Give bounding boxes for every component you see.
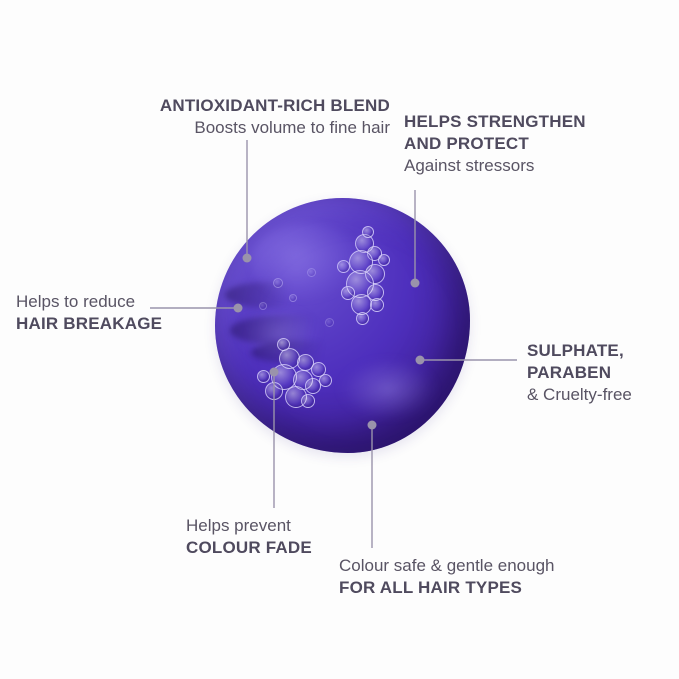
- callout-all-hair-types-bold: FOR ALL HAIR TYPES: [339, 577, 599, 599]
- product-blob-body: [215, 198, 470, 453]
- benefits-infographic: ANTIOXIDANT-RICH BLEND Boosts volume to …: [0, 0, 679, 679]
- anchor-dot-colour-fade: [270, 368, 279, 377]
- callout-breakage-regular: Helps to reduce: [16, 291, 191, 313]
- callout-colour-fade-bold: COLOUR FADE: [186, 537, 351, 559]
- callout-colour-fade-regular: Helps prevent: [186, 515, 351, 537]
- blob-streak-2: [251, 341, 353, 364]
- callout-colour-fade: Helps prevent COLOUR FADE: [186, 515, 351, 559]
- anchor-dot-breakage: [234, 304, 243, 313]
- callout-antioxidant-bold: ANTIOXIDANT-RICH BLEND: [150, 95, 390, 117]
- callout-antioxidant-regular: Boosts volume to fine hair: [150, 117, 390, 139]
- anchor-dot-strengthen: [411, 279, 420, 288]
- callout-all-hair-types-regular: Colour safe & gentle enough: [339, 555, 599, 577]
- callout-sulphate: SULPHATE, PARABEN & Cruelty-free: [527, 340, 677, 406]
- callout-strengthen-bold: HELPS STRENGTHEN AND PROTECT: [404, 111, 609, 155]
- callout-breakage: Helps to reduce HAIR BREAKAGE: [16, 291, 191, 335]
- callout-strengthen-regular: Against stressors: [404, 155, 609, 177]
- anchor-dot-all-hair-types: [368, 421, 377, 430]
- blob-sheen-right: [337, 356, 439, 422]
- callout-strengthen: HELPS STRENGTHEN AND PROTECT Against str…: [404, 111, 609, 177]
- callout-sulphate-regular: & Cruelty-free: [527, 384, 677, 406]
- callout-all-hair-types: Colour safe & gentle enough FOR ALL HAIR…: [339, 555, 599, 599]
- callout-sulphate-bold: SULPHATE, PARABEN: [527, 340, 677, 384]
- callout-antioxidant: ANTIOXIDANT-RICH BLEND Boosts volume to …: [150, 95, 390, 139]
- callout-breakage-bold: HAIR BREAKAGE: [16, 313, 191, 335]
- product-blob: [215, 198, 470, 453]
- anchor-dot-sulphate: [416, 356, 425, 365]
- anchor-dot-antioxidant: [243, 254, 252, 263]
